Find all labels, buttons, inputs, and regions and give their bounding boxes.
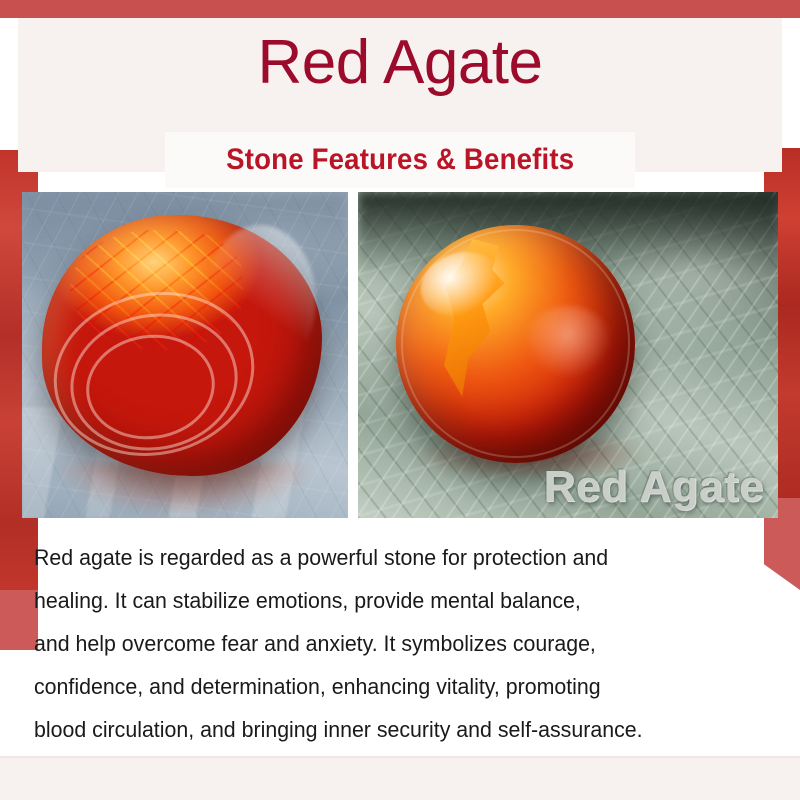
description-line: blood circulation, and bringing inner se… xyxy=(34,708,756,751)
description-line: and help overcome fear and anxiety. It s… xyxy=(34,622,756,665)
red-agate-sphere-image: Red Agate xyxy=(358,192,778,518)
description-line: Red agate is regarded as a powerful ston… xyxy=(34,536,756,579)
decorative-bottom-strip xyxy=(0,758,800,800)
red-agate-tumbled-stone xyxy=(42,215,322,476)
decorative-top-bar xyxy=(0,0,800,18)
stone-gloss-highlight xyxy=(204,225,316,376)
photo-row: Red Agate xyxy=(22,192,778,518)
description-line: confidence, and determination, enhancing… xyxy=(34,665,756,708)
sphere-rim-light xyxy=(401,229,631,457)
subtitle-plate: Stone Features & Benefits xyxy=(165,132,635,188)
page-subtitle: Stone Features & Benefits xyxy=(226,143,574,177)
poster-canvas: Red Agate Stone Features & Benefits xyxy=(0,0,800,800)
red-agate-sphere xyxy=(396,225,635,463)
image-watermark: Red Agate xyxy=(544,462,764,512)
tumbled-red-agate-stone-image xyxy=(22,192,348,518)
header-panel: Red Agate Stone Features & Benefits xyxy=(18,18,782,172)
description-line: healing. It can stabilize emotions, prov… xyxy=(34,579,756,622)
page-title: Red Agate xyxy=(18,32,782,94)
description-block: Red agate is regarded as a powerful ston… xyxy=(34,536,778,751)
